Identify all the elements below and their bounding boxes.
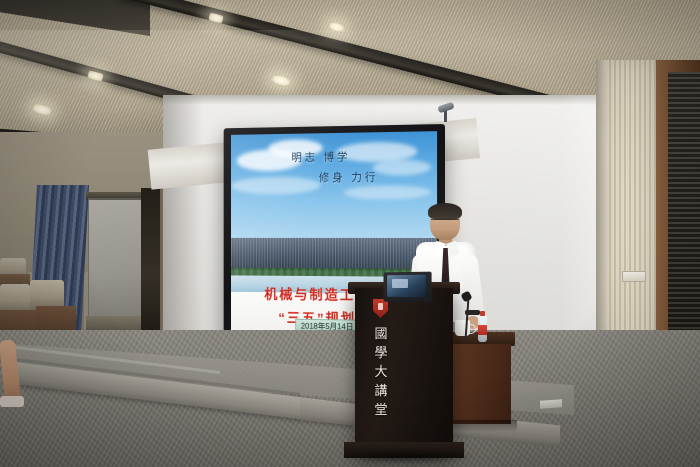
slide-campus-buildings <box>231 238 437 271</box>
slide-motto: 明志 博学 修身 力行 <box>231 147 437 186</box>
bottle-cap <box>480 311 485 316</box>
venue-sign-char: 學 <box>368 343 394 362</box>
projection-screen <box>88 198 141 320</box>
cloud-shape <box>344 185 432 200</box>
lecture-hall-photo: 明志 博学 修身 力行 机械与制造工程学院 “三五”规划汇报 2018年5月14… <box>0 0 700 467</box>
light-switch-plate[interactable] <box>622 271 646 282</box>
bottle-label <box>478 325 487 335</box>
presenter-hair <box>428 203 462 220</box>
venue-sign: 國 學 大 講 堂 <box>368 324 394 419</box>
floor-vent <box>540 399 562 409</box>
venue-sign-char: 國 <box>368 324 394 343</box>
slide-motto-line-2: 修身 力行 <box>262 168 437 186</box>
school-emblem-mark <box>378 303 383 310</box>
lectern-floor-shadow <box>340 448 475 464</box>
front-wall-top-edge <box>163 95 603 105</box>
laptop-screen-glow <box>392 279 408 288</box>
venue-sign-char: 講 <box>368 381 394 400</box>
venue-sign-char: 大 <box>368 362 394 381</box>
camera-mount <box>444 110 447 122</box>
venue-sign-char: 堂 <box>368 400 394 419</box>
passerby-shoe <box>0 396 24 407</box>
water-bottle[interactable] <box>478 316 487 342</box>
slide-motto-line-1: 明志 博学 <box>231 147 437 166</box>
projection-screen-base <box>86 316 144 330</box>
eyeglasses-icon <box>431 219 459 226</box>
